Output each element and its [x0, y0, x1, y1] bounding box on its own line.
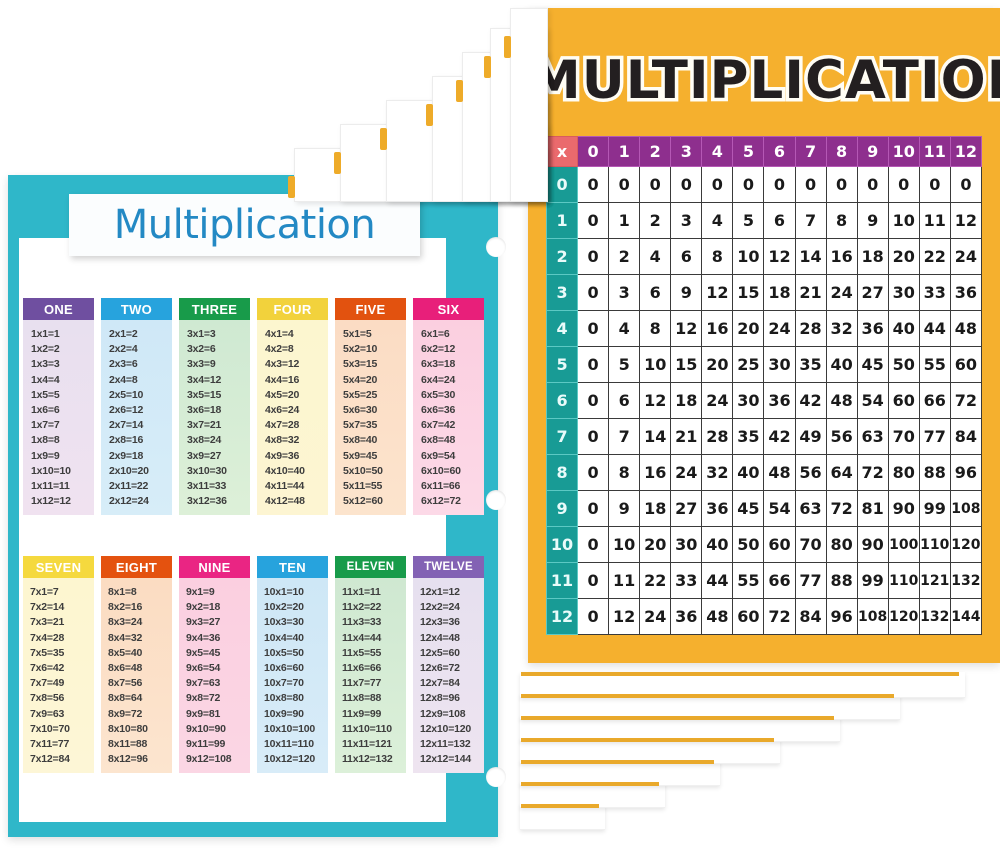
- times-table-equation: 10x1=10: [264, 586, 328, 598]
- grid-cell: 40: [826, 347, 857, 383]
- grid-cell: 11: [919, 203, 950, 239]
- times-table-equation: 12x8=96: [420, 692, 484, 704]
- grid-column-header: 1: [609, 137, 640, 167]
- times-table-body: 5x1=55x2=105x3=155x4=205x5=255x6=305x7=3…: [335, 320, 406, 515]
- times-table-equation: 10x9=90: [264, 708, 328, 720]
- grid-cell: 1: [609, 203, 640, 239]
- grid-cell: 4: [609, 311, 640, 347]
- grid-row-header: 5: [547, 347, 578, 383]
- times-table-six[interactable]: SIX6x1=66x2=126x3=186x4=246x5=306x6=366x…: [413, 298, 484, 515]
- grid-column-header: 12: [950, 137, 981, 167]
- times-table-equation: 1x10=10: [31, 465, 94, 477]
- grid-cell: 120: [950, 527, 981, 563]
- times-table-equation: 7x2=14: [30, 601, 94, 613]
- grid-cell: 60: [733, 599, 764, 635]
- times-table-body: 6x1=66x2=126x3=186x4=246x5=306x6=366x7=4…: [413, 320, 484, 515]
- times-table-equation: 3x12=36: [187, 495, 250, 507]
- times-table-equation: 11x3=33: [342, 616, 406, 628]
- fanned-page-edge: [426, 104, 433, 126]
- grid-header-row: x0123456789101112: [547, 137, 982, 167]
- grid-cell: 28: [795, 311, 826, 347]
- grid-cell: 8: [702, 239, 733, 275]
- binder-hole-top: [486, 237, 506, 257]
- times-table-header: SIX: [413, 298, 484, 320]
- grid-cell: 45: [733, 491, 764, 527]
- times-table-two[interactable]: TWO2x1=22x2=42x3=62x4=82x5=102x6=122x7=1…: [101, 298, 172, 515]
- grid-column-header: 8: [826, 137, 857, 167]
- grid-column-header: 4: [702, 137, 733, 167]
- grid-cell: 3: [609, 275, 640, 311]
- grid-cell: 20: [702, 347, 733, 383]
- grid-cell: 32: [826, 311, 857, 347]
- grid-row-header: 10: [547, 527, 578, 563]
- grid-cell: 90: [888, 491, 919, 527]
- grid-row: 90918273645546372819099108: [547, 491, 982, 527]
- grid-cell: 18: [671, 383, 702, 419]
- times-table-equation: 10x4=40: [264, 632, 328, 644]
- grid-cell: 40: [702, 527, 733, 563]
- grid-row-header: 11: [547, 563, 578, 599]
- times-table-equation: 10x6=60: [264, 662, 328, 674]
- grid-cell: 18: [764, 275, 795, 311]
- grid-cell: 6: [764, 203, 795, 239]
- times-table-equation: 4x1=4: [265, 328, 328, 340]
- times-table-equation: 12x5=60: [420, 647, 484, 659]
- grid-cell: 33: [671, 563, 702, 599]
- grid-row: 6061218243036424854606672: [547, 383, 982, 419]
- times-table-equation: 7x7=49: [30, 677, 94, 689]
- grid-cell: 0: [671, 167, 702, 203]
- times-table-equation: 12x10=120: [420, 723, 484, 735]
- grid-cell: 120: [888, 599, 919, 635]
- grid-cell: 44: [919, 311, 950, 347]
- grid-cell: 72: [950, 383, 981, 419]
- fanned-page-edge: [456, 80, 463, 102]
- times-table-equation: 1x6=6: [31, 404, 94, 416]
- times-table-equation: 9x9=81: [186, 708, 250, 720]
- grid-cell: 0: [640, 167, 671, 203]
- fanned-page-edge: [288, 176, 295, 198]
- grid-cell: 12: [764, 239, 795, 275]
- grid-cell: 12: [609, 599, 640, 635]
- times-table-equation: 2x10=20: [109, 465, 172, 477]
- times-table-equation: 10x10=100: [264, 723, 328, 735]
- times-table-equation: 10x2=20: [264, 601, 328, 613]
- grid-cell: 42: [764, 419, 795, 455]
- orange-poster-title: MULTIPLICATION: [528, 50, 1000, 111]
- grid-cell: 36: [857, 311, 888, 347]
- grid-cell: 20: [733, 311, 764, 347]
- grid-cell: 12: [950, 203, 981, 239]
- times-table-equation: 6x11=66: [421, 480, 484, 492]
- times-table-equation: 8x2=16: [108, 601, 172, 613]
- grid-row-header: 7: [547, 419, 578, 455]
- teal-poster-title: Multiplication: [114, 202, 376, 248]
- times-table-equation: 5x5=25: [343, 389, 406, 401]
- times-table-equation: 1x9=9: [31, 450, 94, 462]
- times-table-equation: 5x6=30: [343, 404, 406, 416]
- times-table-equation: 6x2=12: [421, 343, 484, 355]
- grid-cell: 45: [857, 347, 888, 383]
- grid-cell: 25: [733, 347, 764, 383]
- times-table-equation: 3x2=6: [187, 343, 250, 355]
- multiplication-grid-container: x012345678910111200000000000000101234567…: [540, 136, 988, 641]
- times-table-equation: 9x4=36: [186, 632, 250, 644]
- times-table-equation: 7x8=56: [30, 692, 94, 704]
- grid-cell: 9: [857, 203, 888, 239]
- grid-cell: 3: [671, 203, 702, 239]
- grid-corner-cell: x: [547, 137, 578, 167]
- fanned-page-edge: [484, 56, 491, 78]
- grid-cell: 55: [919, 347, 950, 383]
- grid-cell: 9: [609, 491, 640, 527]
- times-table-nine[interactable]: NINE9x1=99x2=189x3=279x4=369x5=459x6=549…: [179, 556, 250, 773]
- grid-cell: 77: [795, 563, 826, 599]
- times-table-body: 4x1=44x2=84x3=124x4=164x5=204x6=244x7=28…: [257, 320, 328, 515]
- grid-column-header: 5: [733, 137, 764, 167]
- grid-cell: 44: [702, 563, 733, 599]
- grid-cell: 49: [795, 419, 826, 455]
- grid-cell: 8: [609, 455, 640, 491]
- grid-cell: 10: [888, 203, 919, 239]
- grid-cell: 121: [919, 563, 950, 599]
- times-table-equation: 7x9=63: [30, 708, 94, 720]
- grid-cell: 132: [919, 599, 950, 635]
- grid-cell: 30: [764, 347, 795, 383]
- poster-scene: MULTIPLICATION x012345678910111200000000…: [0, 0, 1000, 853]
- fanned-page: [510, 8, 548, 202]
- grid-column-header: 10: [888, 137, 919, 167]
- times-table-equation: 11x9=99: [342, 708, 406, 720]
- grid-cell: 90: [857, 527, 888, 563]
- times-table-equation: 10x5=50: [264, 647, 328, 659]
- times-table-equation: 5x12=60: [343, 495, 406, 507]
- times-table-equation: 7x6=42: [30, 662, 94, 674]
- times-table-equation: 8x7=56: [108, 677, 172, 689]
- grid-cell: 36: [764, 383, 795, 419]
- times-table-equation: 4x8=32: [265, 434, 328, 446]
- grid-cell: 99: [919, 491, 950, 527]
- grid-cell: 0: [702, 167, 733, 203]
- grid-cell: 10: [609, 527, 640, 563]
- grid-cell: 0: [609, 167, 640, 203]
- times-table-equation: 11x2=22: [342, 601, 406, 613]
- grid-cell: 14: [640, 419, 671, 455]
- times-table-equation: 1x1=1: [31, 328, 94, 340]
- grid-cell: 42: [795, 383, 826, 419]
- grid-cell: 30: [671, 527, 702, 563]
- multiplication-grid-poster[interactable]: MULTIPLICATION x012345678910111200000000…: [528, 8, 1000, 663]
- times-table-equation: 11x12=132: [342, 753, 406, 765]
- times-table-equation: 6x6=36: [421, 404, 484, 416]
- grid-cell: 10: [733, 239, 764, 275]
- times-table-equation: 12x4=48: [420, 632, 484, 644]
- grid-cell: 60: [888, 383, 919, 419]
- grid-cell: 50: [888, 347, 919, 383]
- times-table-equation: 9x6=54: [186, 662, 250, 674]
- times-table-header: THREE: [179, 298, 250, 320]
- times-table-equation: 3x3=9: [187, 358, 250, 370]
- grid-row-header: 8: [547, 455, 578, 491]
- times-table-equation: 2x9=18: [109, 450, 172, 462]
- grid-column-header: 2: [640, 137, 671, 167]
- grid-cell: 64: [826, 455, 857, 491]
- grid-cell: 30: [733, 383, 764, 419]
- grid-cell: 16: [826, 239, 857, 275]
- times-table-header: FOUR: [257, 298, 328, 320]
- grid-row-header: 12: [547, 599, 578, 635]
- grid-cell: 0: [578, 239, 609, 275]
- grid-row: 100102030405060708090100110120: [547, 527, 982, 563]
- grid-cell: 8: [826, 203, 857, 239]
- times-table-equation: 4x6=24: [265, 404, 328, 416]
- grid-cell: 0: [733, 167, 764, 203]
- times-table-equation: 7x5=35: [30, 647, 94, 659]
- times-table-body: 8x1=88x2=168x3=248x4=328x5=408x6=488x7=5…: [101, 578, 172, 773]
- binder-hole-middle: [486, 490, 506, 510]
- grid-cell: 108: [950, 491, 981, 527]
- grid-row: 7071421283542495663707784: [547, 419, 982, 455]
- times-table-ten[interactable]: TEN10x1=1010x2=2010x3=3010x4=4010x5=5010…: [257, 556, 328, 773]
- grid-cell: 63: [795, 491, 826, 527]
- times-table-header: ONE: [23, 298, 94, 320]
- fanned-page-edge: [334, 152, 341, 174]
- binder-hole-bottom: [486, 767, 506, 787]
- grid-cell: 36: [671, 599, 702, 635]
- fanned-page-bottom-edge: [521, 760, 714, 764]
- grid-row-header: 4: [547, 311, 578, 347]
- times-table-equation: 3x7=21: [187, 419, 250, 431]
- grid-column-header: 7: [795, 137, 826, 167]
- grid-cell: 11: [609, 563, 640, 599]
- grid-cell: 7: [609, 419, 640, 455]
- grid-row: 1201224364860728496108120132144: [547, 599, 982, 635]
- times-table-equation: 7x1=7: [30, 586, 94, 598]
- times-table-equation: 2x3=6: [109, 358, 172, 370]
- grid-cell: 4: [702, 203, 733, 239]
- grid-cell: 56: [795, 455, 826, 491]
- grid-cell: 144: [950, 599, 981, 635]
- times-table-equation: 4x11=44: [265, 480, 328, 492]
- grid-cell: 100: [888, 527, 919, 563]
- grid-cell: 0: [578, 275, 609, 311]
- times-table-equation: 2x6=12: [109, 404, 172, 416]
- grid-cell: 66: [764, 563, 795, 599]
- times-table-equation: 1x2=2: [31, 343, 94, 355]
- grid-cell: 24: [640, 599, 671, 635]
- grid-cell: 110: [919, 527, 950, 563]
- times-table-equation: 8x8=64: [108, 692, 172, 704]
- grid-cell: 36: [702, 491, 733, 527]
- grid-cell: 0: [578, 203, 609, 239]
- grid-cell: 84: [950, 419, 981, 455]
- grid-cell: 12: [671, 311, 702, 347]
- times-table-equation: 3x10=30: [187, 465, 250, 477]
- grid-column-header: 9: [857, 137, 888, 167]
- times-table-seven[interactable]: SEVEN7x1=77x2=147x3=217x4=287x5=357x6=42…: [23, 556, 94, 773]
- times-table-body: 11x1=1111x2=2211x3=3311x4=4411x5=5511x6=…: [335, 578, 406, 773]
- grid-cell: 0: [578, 527, 609, 563]
- times-table-equation: 6x7=42: [421, 419, 484, 431]
- grid-cell: 70: [888, 419, 919, 455]
- grid-cell: 6: [640, 275, 671, 311]
- times-table-header: SEVEN: [23, 556, 94, 578]
- grid-cell: 28: [702, 419, 733, 455]
- grid-cell: 27: [671, 491, 702, 527]
- times-table-equation: 5x2=10: [343, 343, 406, 355]
- grid-cell: 99: [857, 563, 888, 599]
- times-table-equation: 5x1=5: [343, 328, 406, 340]
- times-table-four[interactable]: FOUR4x1=44x2=84x3=124x4=164x5=204x6=244x…: [257, 298, 328, 515]
- grid-cell: 16: [640, 455, 671, 491]
- times-table-equation: 9x8=72: [186, 692, 250, 704]
- times-table-equation: 8x6=48: [108, 662, 172, 674]
- grid-cell: 0: [578, 563, 609, 599]
- grid-cell: 80: [826, 527, 857, 563]
- times-table-eight[interactable]: EIGHT8x1=88x2=168x3=248x4=328x5=408x6=48…: [101, 556, 172, 773]
- grid-row: 2024681012141618202224: [547, 239, 982, 275]
- times-table-three[interactable]: THREE3x1=33x2=63x3=93x4=123x5=153x6=183x…: [179, 298, 250, 515]
- grid-cell: 4: [640, 239, 671, 275]
- times-table-equation: 3x11=33: [187, 480, 250, 492]
- grid-cell: 0: [578, 383, 609, 419]
- times-table-equation: 5x8=40: [343, 434, 406, 446]
- fanned-page-bottom-edge: [521, 716, 834, 720]
- times-table-equation: 2x2=4: [109, 343, 172, 355]
- grid-cell: 35: [733, 419, 764, 455]
- times-table-equation: 8x11=88: [108, 738, 172, 750]
- times-table-equation: 2x1=2: [109, 328, 172, 340]
- times-table-one[interactable]: ONE1x1=11x2=21x3=31x4=41x5=51x6=61x7=71x…: [23, 298, 94, 515]
- times-table-equation: 11x7=77: [342, 677, 406, 689]
- teal-poster-title-plate: Multiplication: [69, 194, 420, 256]
- times-table-equation: 4x9=36: [265, 450, 328, 462]
- grid-row-header: 6: [547, 383, 578, 419]
- grid-cell: 24: [826, 275, 857, 311]
- times-table-eleven[interactable]: ELEVEN11x1=1111x2=2211x3=3311x4=4411x5=5…: [335, 556, 406, 773]
- grid-cell: 33: [919, 275, 950, 311]
- grid-column-header: 3: [671, 137, 702, 167]
- grid-cell: 63: [857, 419, 888, 455]
- times-table-equation: 6x5=30: [421, 389, 484, 401]
- grid-cell: 0: [578, 167, 609, 203]
- grid-cell: 55: [733, 563, 764, 599]
- grid-cell: 96: [950, 455, 981, 491]
- grid-cell: 6: [671, 239, 702, 275]
- grid-cell: 5: [733, 203, 764, 239]
- times-table-equation: 12x2=24: [420, 601, 484, 613]
- times-table-equation: 11x4=44: [342, 632, 406, 644]
- grid-cell: 22: [919, 239, 950, 275]
- times-table-header: NINE: [179, 556, 250, 578]
- grid-cell: 20: [888, 239, 919, 275]
- times-table-equation: 6x4=24: [421, 374, 484, 386]
- times-table-equation: 12x12=144: [420, 753, 484, 765]
- grid-cell: 0: [795, 167, 826, 203]
- times-table-equation: 6x3=18: [421, 358, 484, 370]
- grid-row: 404812162024283236404448: [547, 311, 982, 347]
- grid-cell: 80: [888, 455, 919, 491]
- grid-cell: 72: [826, 491, 857, 527]
- grid-row: 10123456789101112: [547, 203, 982, 239]
- grid-cell: 48: [702, 599, 733, 635]
- times-table-equation: 4x4=16: [265, 374, 328, 386]
- times-table-equation: 9x5=45: [186, 647, 250, 659]
- grid-cell: 96: [826, 599, 857, 635]
- times-table-equation: 8x1=8: [108, 586, 172, 598]
- times-table-equation: 8x9=72: [108, 708, 172, 720]
- times-table-equation: 3x1=3: [187, 328, 250, 340]
- grid-cell: 7: [795, 203, 826, 239]
- grid-cell: 88: [919, 455, 950, 491]
- grid-cell: 30: [888, 275, 919, 311]
- times-table-equation: 6x8=48: [421, 434, 484, 446]
- grid-row-header: 2: [547, 239, 578, 275]
- grid-cell: 0: [578, 347, 609, 383]
- grid-cell: 21: [795, 275, 826, 311]
- times-table-equation: 11x6=66: [342, 662, 406, 674]
- grid-cell: 24: [671, 455, 702, 491]
- grid-cell: 21: [671, 419, 702, 455]
- grid-row: 8081624324048566472808896: [547, 455, 982, 491]
- times-table-equation: 9x7=63: [186, 677, 250, 689]
- fanned-page-bottom-edge: [521, 694, 894, 698]
- times-table-header: TWELVE: [413, 556, 484, 578]
- grid-column-header: 0: [578, 137, 609, 167]
- times-table-twelve[interactable]: TWELVE12x1=1212x2=2412x3=3612x4=4812x5=6…: [413, 556, 484, 773]
- times-tables-row-one: ONE1x1=11x2=21x3=31x4=41x5=51x6=61x7=71x…: [23, 298, 484, 515]
- grid-cell: 60: [764, 527, 795, 563]
- times-table-header: EIGHT: [101, 556, 172, 578]
- times-table-body: 3x1=33x2=63x3=93x4=123x5=153x6=183x7=213…: [179, 320, 250, 515]
- times-table-body: 9x1=99x2=189x3=279x4=369x5=459x6=549x7=6…: [179, 578, 250, 773]
- grid-cell: 24: [764, 311, 795, 347]
- times-table-equation: 2x12=24: [109, 495, 172, 507]
- times-table-header: TWO: [101, 298, 172, 320]
- times-table-five[interactable]: FIVE5x1=55x2=105x3=155x4=205x5=255x6=305…: [335, 298, 406, 515]
- grid-cell: 110: [888, 563, 919, 599]
- times-table-equation: 3x6=18: [187, 404, 250, 416]
- times-table-equation: 12x3=36: [420, 616, 484, 628]
- grid-cell: 10: [640, 347, 671, 383]
- grid-cell: 72: [764, 599, 795, 635]
- grid-cell: 66: [919, 383, 950, 419]
- times-table-equation: 5x11=55: [343, 480, 406, 492]
- times-table-equation: 9x10=90: [186, 723, 250, 735]
- grid-cell: 0: [578, 311, 609, 347]
- grid-cell: 0: [578, 419, 609, 455]
- times-table-equation: 10x7=70: [264, 677, 328, 689]
- times-table-equation: 8x5=40: [108, 647, 172, 659]
- times-table-body: 1x1=11x2=21x3=31x4=41x5=51x6=61x7=71x8=8…: [23, 320, 94, 515]
- grid-cell: 54: [764, 491, 795, 527]
- times-table-equation: 3x5=15: [187, 389, 250, 401]
- times-table-equation: 8x4=32: [108, 632, 172, 644]
- times-table-equation: 12x11=132: [420, 738, 484, 750]
- times-table-equation: 7x11=77: [30, 738, 94, 750]
- times-table-equation: 5x4=20: [343, 374, 406, 386]
- grid-cell: 32: [702, 455, 733, 491]
- grid-cell: 0: [578, 599, 609, 635]
- times-table-equation: 4x5=20: [265, 389, 328, 401]
- times-table-equation: 8x3=24: [108, 616, 172, 628]
- grid-cell: 5: [609, 347, 640, 383]
- grid-column-header: 11: [919, 137, 950, 167]
- grid-cell: 24: [702, 383, 733, 419]
- times-table-equation: 1x8=8: [31, 434, 94, 446]
- multiplication-grid-table: x012345678910111200000000000000101234567…: [546, 136, 982, 635]
- times-table-equation: 12x6=72: [420, 662, 484, 674]
